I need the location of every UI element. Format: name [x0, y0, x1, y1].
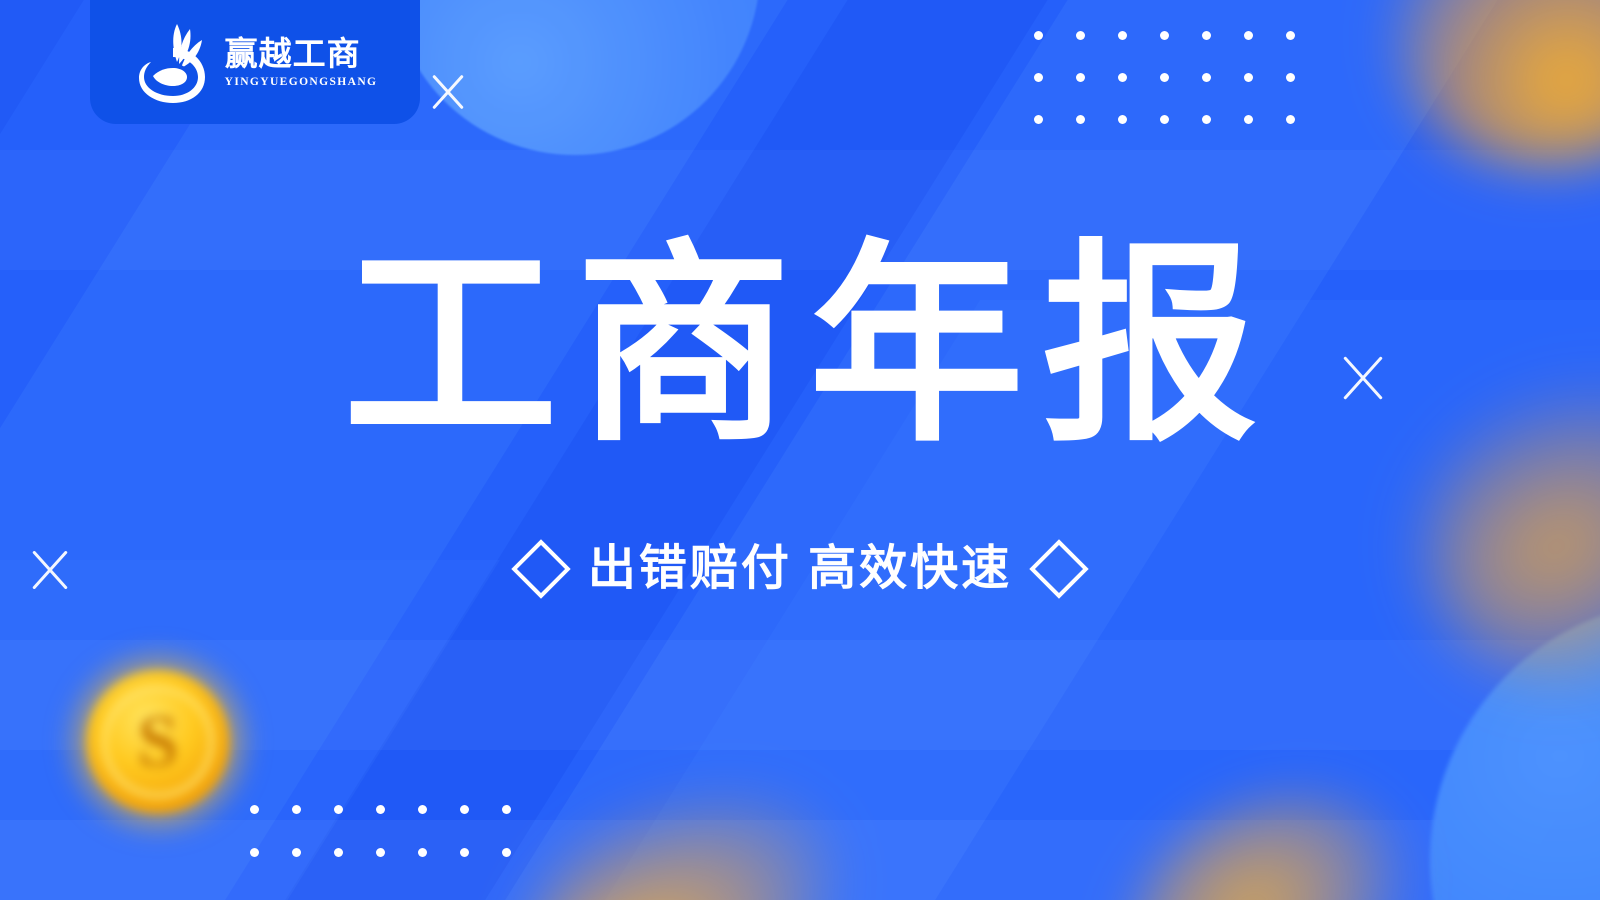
grid-dot: [418, 805, 427, 814]
grid-dot: [1076, 31, 1085, 40]
dot-grid-bottom-left: [250, 805, 544, 891]
diamond-outline-right-icon: [1029, 539, 1088, 598]
grid-dot: [376, 805, 385, 814]
light-wash-band: [0, 640, 1600, 750]
grid-dot: [1286, 73, 1295, 82]
grid-dot: [460, 848, 469, 857]
grid-dot: [1286, 115, 1295, 124]
grid-dot: [1286, 31, 1295, 40]
grid-dot: [1244, 31, 1253, 40]
grid-dot: [1202, 115, 1211, 124]
brand-logo-text: 赢越工商 YINGYUEGONGSHANG: [225, 37, 378, 89]
bird-sprout-mark-icon: [133, 22, 211, 104]
grid-dot: [292, 848, 301, 857]
grid-dot: [1034, 31, 1043, 40]
brand-logo-badge[interactable]: 赢越工商 YINGYUEGONGSHANG: [90, 0, 420, 124]
grid-dot: [1076, 115, 1085, 124]
annual-report-banner: S: [0, 0, 1600, 900]
grid-dot: [1034, 115, 1043, 124]
diamond-outline-left-icon: [511, 539, 570, 598]
grid-dot: [334, 848, 343, 857]
x-sparkle-near-logo-icon: [430, 70, 466, 114]
coin-inner-ring: [102, 686, 214, 798]
grid-dot: [418, 848, 427, 857]
orange-glow-bottom-center: [481, 721, 888, 900]
grid-dot: [1034, 73, 1043, 82]
coin-dollar-glyph: S: [78, 662, 238, 822]
grid-dot: [502, 805, 511, 814]
grid-dot: [1076, 73, 1085, 82]
light-wash-band: [0, 820, 1600, 900]
dot-grid-top-right: [1034, 31, 1328, 157]
grid-dot: [1118, 31, 1127, 40]
subtitle-text: 出错赔付 高效快速: [588, 545, 1012, 593]
subtitle-row: 出错赔付 高效快速: [0, 545, 1600, 593]
orange-glow-bottom-right: [1085, 740, 1455, 900]
light-circle-top-left: [390, 0, 760, 155]
orange-glow-top-right: [1341, 0, 1600, 227]
gold-coin-icon: S: [78, 662, 238, 822]
grid-dot: [334, 805, 343, 814]
grid-dot: [1160, 115, 1169, 124]
grid-dot: [250, 805, 259, 814]
page-title: 工商年报: [0, 238, 1600, 453]
grid-dot: [1244, 73, 1253, 82]
grid-dot: [376, 848, 385, 857]
grid-dot: [1202, 73, 1211, 82]
grid-dot: [1160, 31, 1169, 40]
grid-dot: [1244, 115, 1253, 124]
grid-dot: [250, 848, 259, 857]
light-circle-bottom-right: [1430, 600, 1600, 900]
brand-logo-row: 赢越工商 YINGYUEGONGSHANG: [133, 22, 378, 104]
grid-dot: [460, 805, 469, 814]
grid-dot: [1118, 73, 1127, 82]
grid-dot: [1202, 31, 1211, 40]
grid-dot: [502, 848, 511, 857]
brand-name-cn: 赢越工商: [225, 37, 361, 70]
coin-body: [86, 670, 230, 814]
grid-dot: [1160, 73, 1169, 82]
diagonal-band: [0, 560, 500, 900]
grid-dot: [292, 805, 301, 814]
grid-dot: [1118, 115, 1127, 124]
brand-name-en: YINGYUEGONGSHANG: [225, 77, 378, 89]
